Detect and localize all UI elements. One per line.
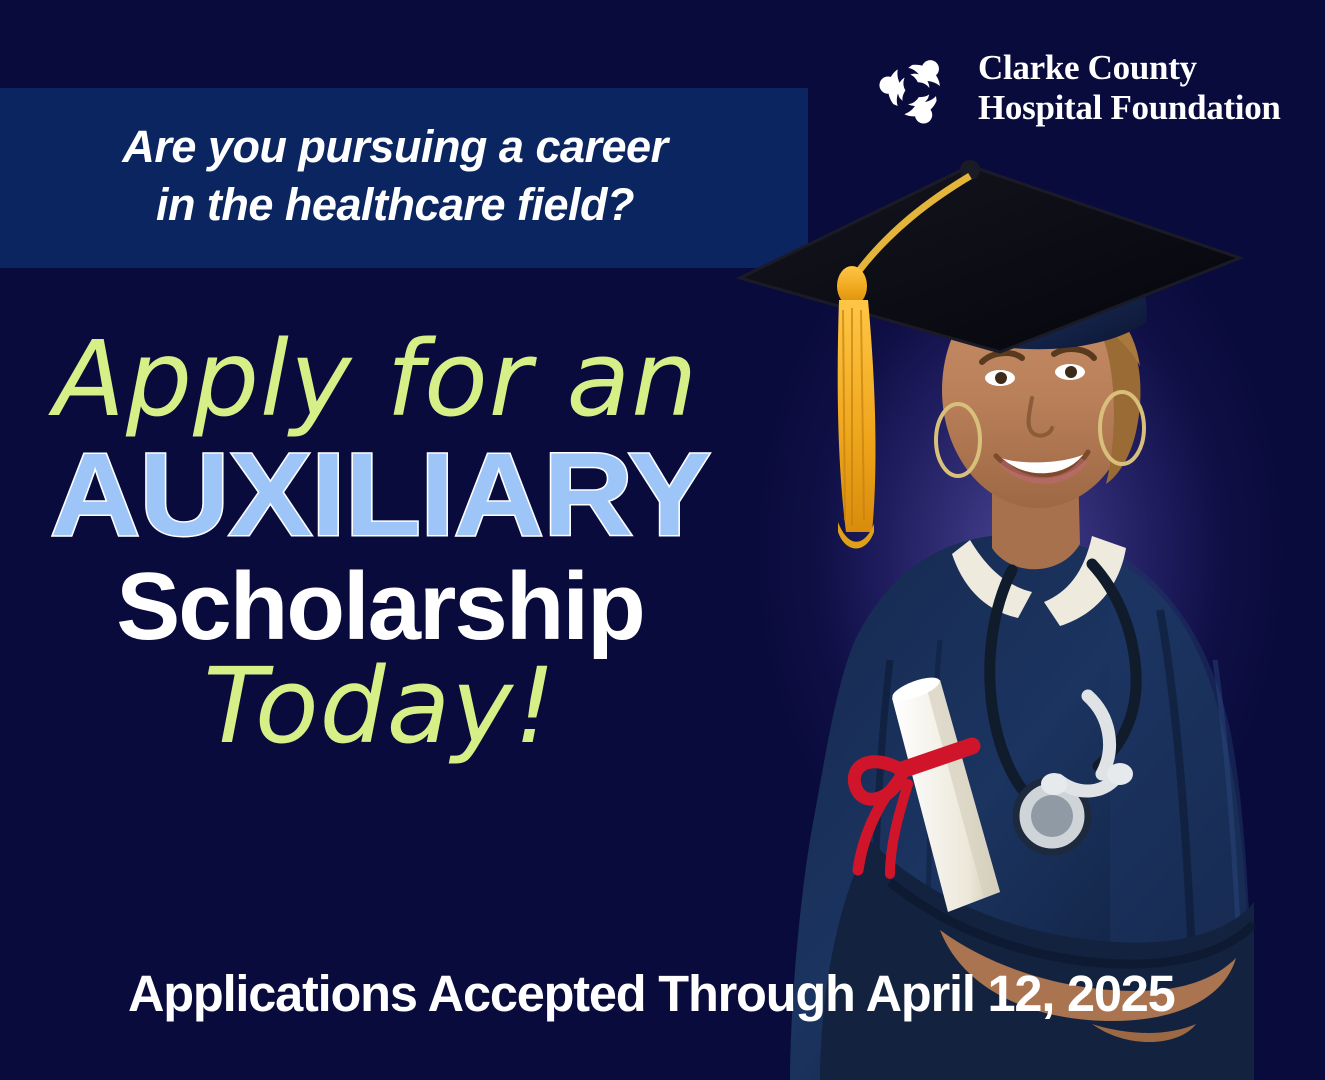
- swirl-logo-icon: [866, 40, 962, 136]
- deadline-text: Applications Accepted Through April 12, …: [128, 966, 1175, 1022]
- graduate-photo: [640, 140, 1325, 1080]
- logo-wordmark: Clarke County Hospital Foundation: [978, 48, 1281, 128]
- logo-line-2: Hospital Foundation: [978, 88, 1281, 128]
- graduate-illustration: [640, 140, 1325, 1080]
- scholarship-promo-poster: Are you pursuing a career in the healthc…: [0, 0, 1325, 1080]
- foundation-logo: Clarke County Hospital Foundation: [866, 36, 1266, 140]
- mortarboard: [740, 160, 1240, 352]
- logo-line-1: Clarke County: [978, 48, 1281, 88]
